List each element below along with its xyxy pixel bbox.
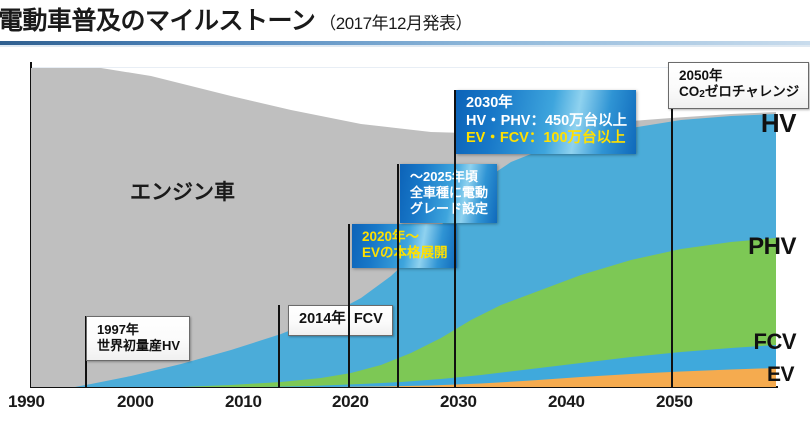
- slide-root: 電動車普及のマイルストーン （2017年12月発表）: [0, 0, 810, 427]
- flag-banner-2014: 2014年 FCV: [288, 305, 393, 336]
- x-tick-1990: 1990: [8, 392, 45, 412]
- flag-2030-line3: EV・FCV：100万台以上: [466, 130, 626, 146]
- page-title-sub: （2017年12月発表）: [319, 9, 472, 34]
- x-tick-2050: 2050: [656, 392, 693, 412]
- title-rule-light: [0, 45, 810, 47]
- flag-2020-line1: 2020年～: [362, 229, 419, 244]
- flag-2030-line1: 2030年: [466, 95, 513, 111]
- flag-banner-2020: 2020年～EVの本格展開: [352, 224, 457, 268]
- flag-2014-line1: 2014年 FCV: [299, 311, 383, 327]
- flag-1997-line1: 1997年: [97, 322, 139, 337]
- flag-pole-2020: [348, 224, 350, 387]
- series-label-engine: エンジン車: [130, 176, 235, 206]
- flag-pole-2025: [397, 164, 399, 387]
- flag-banner-2030: 2030年HV・PHV：450万台以上EV・FCV：100万台以上: [456, 90, 636, 154]
- flag-1997-line2: 世界初量産HV: [97, 338, 180, 353]
- x-tick-2030: 2030: [440, 392, 477, 412]
- flag-2030-line2: HV・PHV：450万台以上: [466, 113, 627, 129]
- flag-2025-line2: 全車種に電動: [410, 185, 488, 200]
- series-label-hv: HV: [761, 108, 796, 139]
- series-label-ev: EV: [767, 363, 794, 387]
- x-tick-2040: 2040: [548, 392, 585, 412]
- series-label-fcv: FCV: [754, 329, 797, 355]
- flag-2025-line3: グレード設定: [410, 201, 488, 216]
- x-tick-2010: 2010: [225, 392, 262, 412]
- x-tick-2000: 2000: [117, 392, 154, 412]
- flag-2020-line2: EVの本格展開: [362, 245, 448, 260]
- flag-pole-2050: [671, 62, 673, 387]
- flag-banner-2025: ～2025年頃全車種に電動グレード設定: [400, 164, 497, 223]
- flag-2025-line1: ～2025年頃: [410, 169, 478, 184]
- flag-2050-line2-pre: CO: [679, 84, 699, 99]
- flag-2050-line2-post: ゼロチャレンジ: [705, 84, 799, 99]
- flag-banner-1997: 1997年世界初量産HV: [86, 316, 190, 361]
- x-axis-tick-labels: 1990 2000 2010 2020 2030 2040 2050: [0, 392, 810, 418]
- flag-2050-line1: 2050年: [679, 68, 723, 83]
- flag-pole-2014: [278, 305, 280, 387]
- series-label-phv: PHV: [748, 233, 796, 261]
- page-title-main: 電動車普及のマイルストーン: [0, 9, 315, 34]
- flag-banner-2050: 2050年CO2ゼロチャレンジ: [668, 62, 809, 109]
- page-title: 電動車普及のマイルストーン （2017年12月発表）: [0, 2, 810, 40]
- x-tick-2020: 2020: [332, 392, 369, 412]
